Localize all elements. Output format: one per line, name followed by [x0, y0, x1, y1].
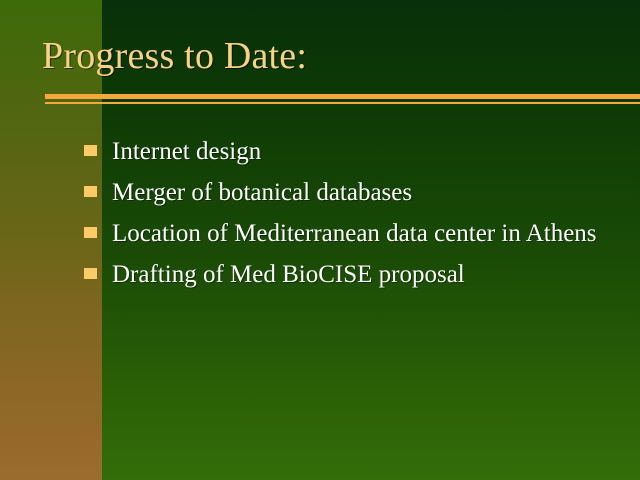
- list-item-label: Drafting of Med BioCISE proposal: [112, 256, 612, 293]
- list-item: Location of Mediterranean data center in…: [84, 215, 612, 252]
- presentation-slide: Progress to Date: Internet design Merger…: [0, 0, 640, 480]
- title-divider: [45, 94, 640, 106]
- list-item: Internet design: [84, 133, 612, 170]
- square-bullet-icon: [84, 268, 97, 279]
- square-bullet-icon: [84, 227, 97, 238]
- list-item: Drafting of Med BioCISE proposal: [84, 256, 612, 293]
- divider-rule-thick: [45, 94, 640, 99]
- slide-title: Progress to Date:: [42, 33, 622, 79]
- list-item: Merger of botanical databases: [84, 174, 612, 211]
- list-item-label: Internet design: [112, 133, 612, 170]
- square-bullet-icon: [84, 186, 97, 197]
- bullet-list: Internet design Merger of botanical data…: [84, 133, 612, 297]
- list-item-label: Location of Mediterranean data center in…: [112, 215, 612, 252]
- square-bullet-icon: [84, 145, 97, 156]
- divider-rule-thin: [45, 102, 640, 104]
- list-item-label: Merger of botanical databases: [112, 174, 612, 211]
